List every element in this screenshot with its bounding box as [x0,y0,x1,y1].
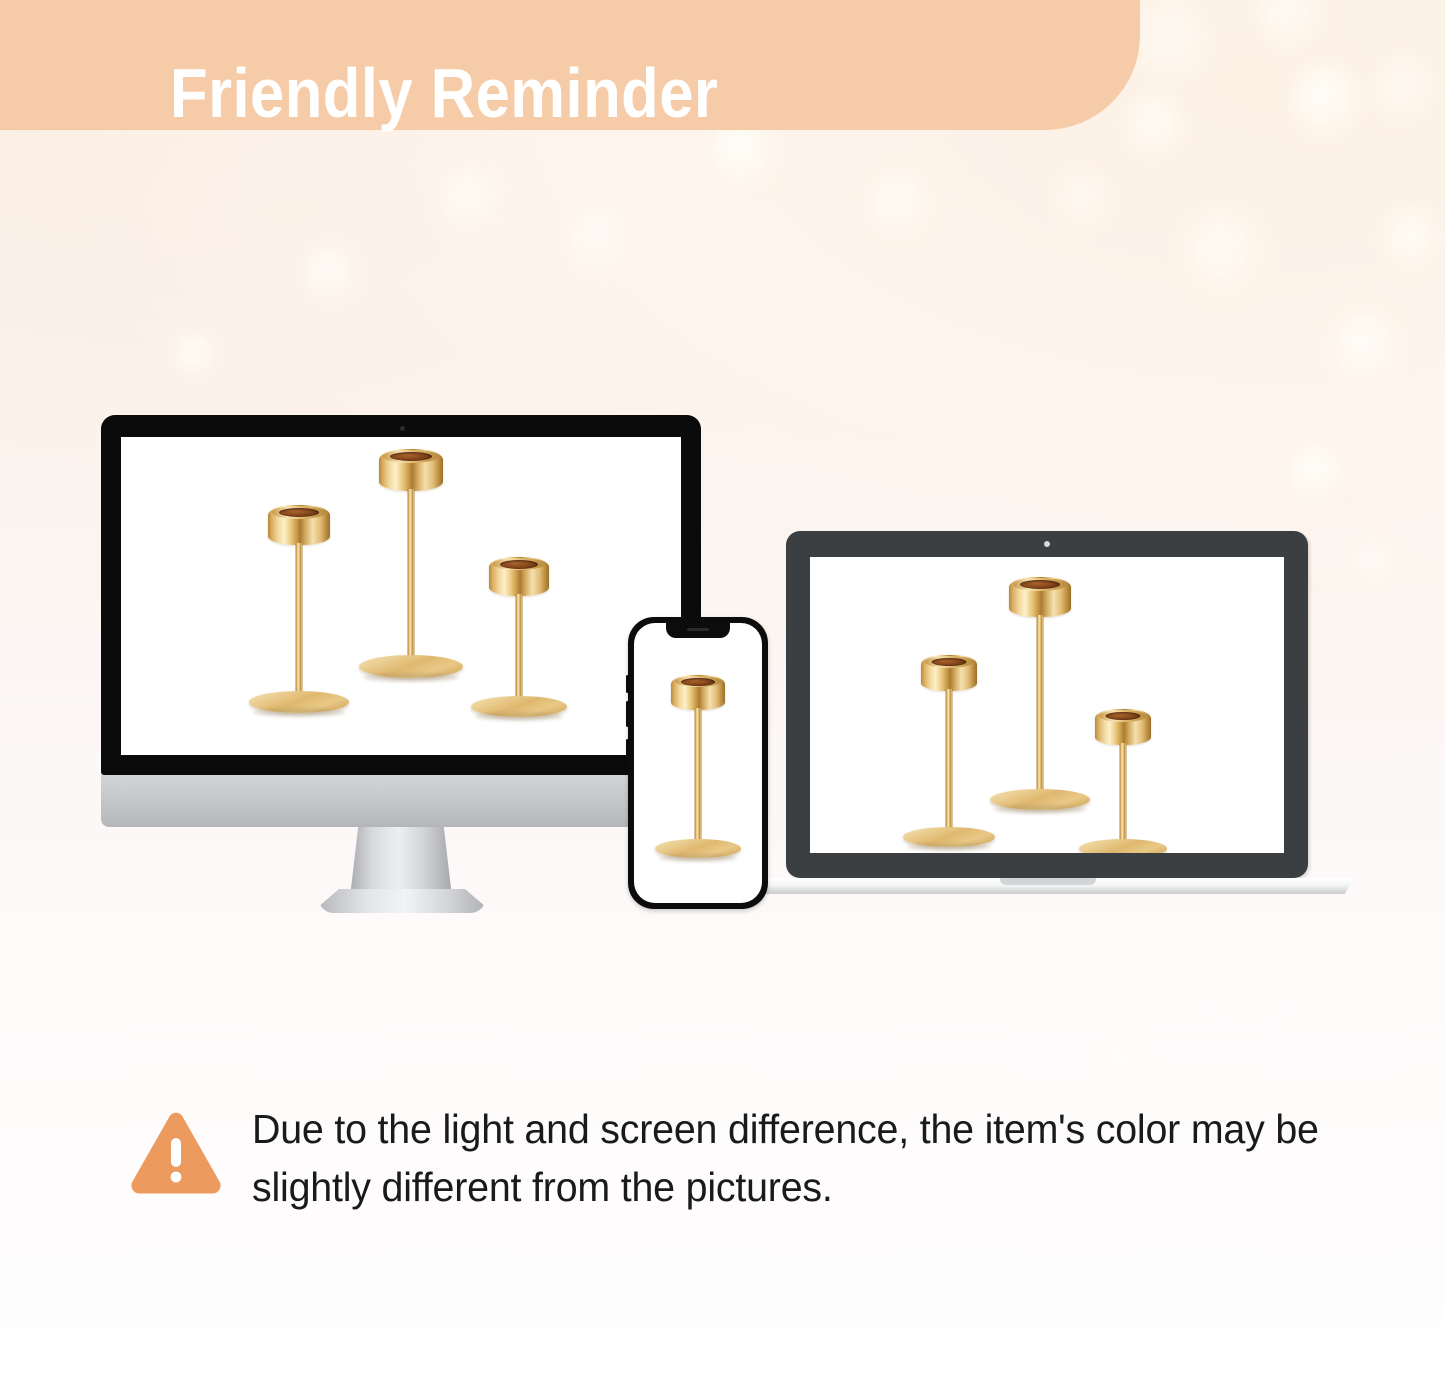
phone-volume-down-button[interactable] [626,701,629,727]
phone-volume-button[interactable] [626,675,629,693]
candlestick-short [459,557,579,737]
monitor-stand-foot [319,889,485,913]
phone-notch [666,623,730,638]
laptop-camera-icon [1044,541,1050,547]
monitor-stand-neck [350,827,452,897]
monitor-chin [101,775,701,827]
page-title: Friendly Reminder [170,58,718,128]
laptop-screen [810,557,1284,853]
monitor-camera-icon [400,426,405,431]
candlestick-short [1068,709,1178,853]
candlestick-tall [652,675,744,875]
phone-earpiece-icon [687,628,709,631]
candlestick-medium [239,505,359,730]
disclaimer-note: Due to the light and screen difference, … [128,1100,1378,1216]
laptop-base-notch [1000,878,1096,885]
disclaimer-text: Due to the light and screen difference, … [252,1100,1333,1216]
warning-triangle-icon [128,1110,224,1196]
phone-silent-switch[interactable] [626,739,629,765]
reminder-graphic: Friendly Reminder [0,0,1445,1373]
phone-screen [634,623,762,903]
monitor-screen [121,437,681,755]
candlestick-tall [351,449,471,704]
